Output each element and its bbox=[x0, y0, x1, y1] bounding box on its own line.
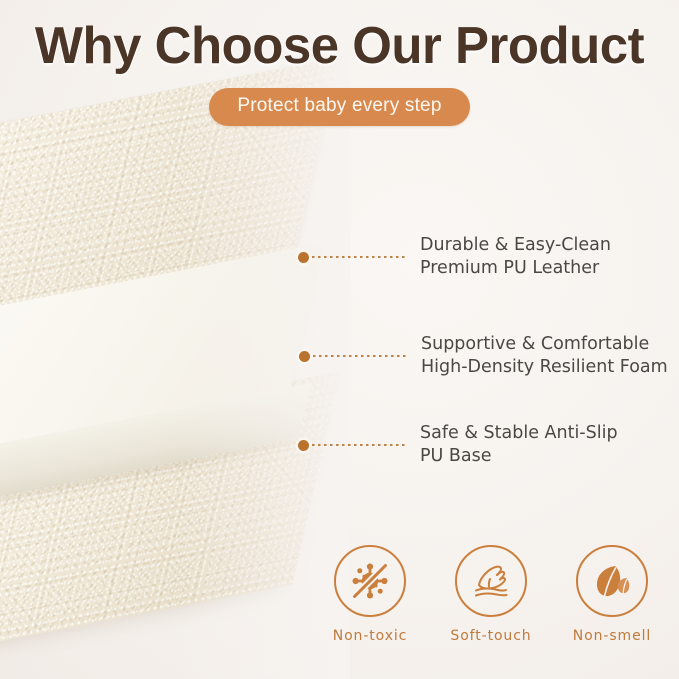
feature-circle bbox=[576, 545, 648, 617]
feature-non-smell: Non-smell bbox=[560, 545, 664, 644]
feature-circle bbox=[455, 545, 527, 617]
callout-dot-icon bbox=[299, 351, 310, 362]
feature-circle bbox=[334, 545, 406, 617]
callout-resilient-foam: Supportive & Comfortable High-Density Re… bbox=[299, 333, 668, 380]
callout-leader-line bbox=[313, 355, 409, 357]
feature-badges: Non-toxic Soft-touch bbox=[318, 545, 664, 644]
leaf-icon bbox=[588, 557, 636, 605]
callout-line-1: Supportive & Comfortable bbox=[421, 333, 668, 356]
product-infographic: Why Choose Our Product Protect baby ever… bbox=[0, 0, 679, 679]
callout-text: Safe & Stable Anti-Slip PU Base bbox=[420, 422, 618, 469]
hand-soft-surface-icon bbox=[467, 557, 515, 605]
callout-line-2: High-Density Resilient Foam bbox=[421, 356, 668, 379]
callout-dot-icon bbox=[298, 252, 309, 263]
callout-line-1: Safe & Stable Anti-Slip bbox=[420, 422, 618, 445]
header: Why Choose Our Product Protect baby ever… bbox=[0, 0, 679, 126]
virus-no-entry-icon bbox=[346, 557, 394, 605]
feature-label: Non-smell bbox=[560, 628, 664, 644]
callout-text: Durable & Easy-Clean Premium PU Leather bbox=[420, 234, 611, 281]
tagline-badge: Protect baby every step bbox=[209, 88, 469, 126]
callout-premium-pu-leather: Durable & Easy-Clean Premium PU Leather bbox=[298, 234, 611, 281]
callout-anti-slip-base: Safe & Stable Anti-Slip PU Base bbox=[298, 422, 618, 469]
callout-leader-line bbox=[312, 256, 408, 258]
feature-label: Soft-touch bbox=[439, 628, 543, 644]
page-title: Why Choose Our Product bbox=[7, 0, 672, 74]
feature-label: Non-toxic bbox=[318, 628, 422, 644]
badge-row: Protect baby every step bbox=[0, 88, 679, 126]
callout-line-2: Premium PU Leather bbox=[420, 257, 611, 280]
feature-non-toxic: Non-toxic bbox=[318, 545, 422, 644]
callout-text: Supportive & Comfortable High-Density Re… bbox=[421, 333, 668, 380]
callout-leader-line bbox=[312, 444, 408, 446]
callout-line-2: PU Base bbox=[420, 445, 618, 468]
callout-dot-icon bbox=[298, 440, 309, 451]
feature-soft-touch: Soft-touch bbox=[439, 545, 543, 644]
callout-line-1: Durable & Easy-Clean bbox=[420, 234, 611, 257]
